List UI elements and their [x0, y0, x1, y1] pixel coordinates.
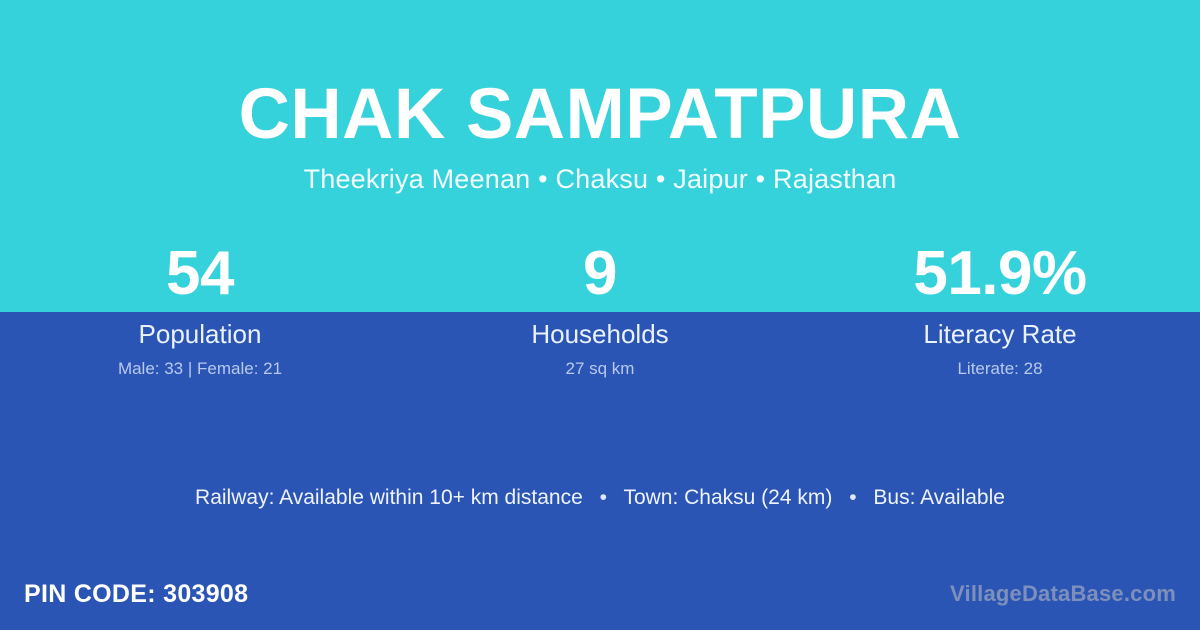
pin-code: PIN CODE: 303908 — [24, 580, 248, 609]
card-footer: PIN CODE: 303908 VillageDataBase.com — [0, 574, 1200, 614]
stat-label-households: Households — [400, 320, 800, 349]
stat-sub-population: Male: 33 | Female: 21 — [0, 360, 400, 379]
stat-value-population: 54 — [0, 243, 400, 305]
facility-town: Town: Chaksu (24 km) — [623, 486, 832, 509]
page-title: CHAK SAMPATPURA — [0, 79, 1200, 151]
breadcrumb: Theekriya Meenan • Chaksu • Jaipur • Raj… — [0, 164, 1200, 195]
facility-bus: Bus: Available — [873, 486, 1005, 509]
stat-value-households: 9 — [400, 243, 800, 305]
facilities-line: Railway: Available within 10+ km distanc… — [0, 486, 1200, 510]
stat-label-literacy-rate: Literacy Rate — [800, 320, 1200, 349]
site-brand: VillageDataBase.com — [950, 581, 1176, 607]
facility-separator-2: • — [838, 486, 867, 510]
stat-population: 54 Population Male: 33 | Female: 21 — [0, 243, 400, 378]
stat-value-literacy-rate: 51.9% — [800, 243, 1200, 305]
stat-households: 9 Households 27 sq km — [400, 243, 800, 378]
stat-sub-literacy-rate: Literate: 28 — [800, 360, 1200, 379]
card-header: CHAK SAMPATPURA Theekriya Meenan • Chaks… — [0, 0, 1200, 195]
stat-sub-households: 27 sq km — [400, 360, 800, 379]
facility-separator-1: • — [589, 486, 618, 510]
facility-railway: Railway: Available within 10+ km distanc… — [195, 486, 583, 509]
stats-row: 54 Population Male: 33 | Female: 21 9 Ho… — [0, 243, 1200, 378]
stat-literacy-rate: 51.9% Literacy Rate Literate: 28 — [800, 243, 1200, 378]
village-info-card: CHAK SAMPATPURA Theekriya Meenan • Chaks… — [0, 0, 1200, 630]
stat-label-population: Population — [0, 320, 400, 349]
